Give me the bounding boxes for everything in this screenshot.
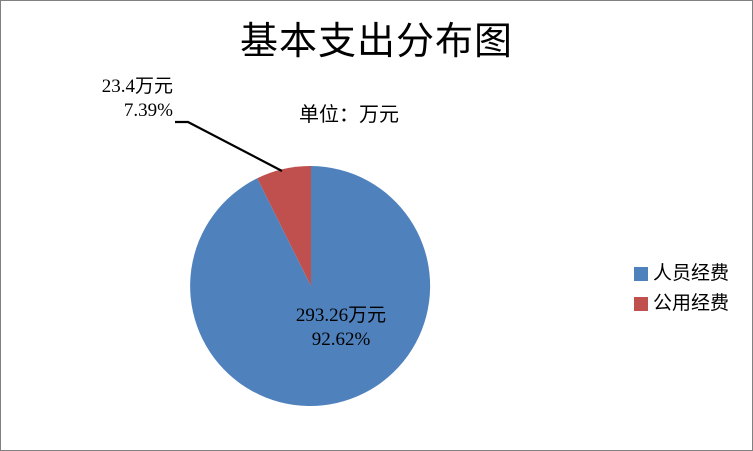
- pie-graphic: [1, 1, 752, 450]
- legend-label-public: 公用经费: [653, 293, 729, 315]
- slice-value-personnel: 293.26万元: [251, 304, 431, 328]
- legend-label-personnel: 人员经费: [653, 263, 729, 285]
- slice-percent-personnel: 92.62%: [251, 328, 431, 352]
- callout-percent-public: 7.39%: [53, 99, 173, 123]
- legend-swatch-icon-public: [634, 297, 648, 311]
- legend-swatch-icon-personnel: [634, 267, 648, 281]
- pie-chart-canvas: 基本支出分布图 单位：万元 23.4万元 7.39% 293.26万元 92.6…: [0, 0, 753, 451]
- callout-value-public: 23.4万元: [53, 75, 173, 99]
- chart-legend: 人员经费 公用经费: [634, 259, 729, 319]
- slice-label-personnel: 293.26万元 92.62%: [251, 304, 431, 352]
- callout-leader-line: [175, 122, 282, 171]
- legend-item-personnel[interactable]: 人员经费: [634, 259, 729, 289]
- callout-label-public: 23.4万元 7.39%: [53, 75, 173, 123]
- legend-item-public[interactable]: 公用经费: [634, 289, 729, 319]
